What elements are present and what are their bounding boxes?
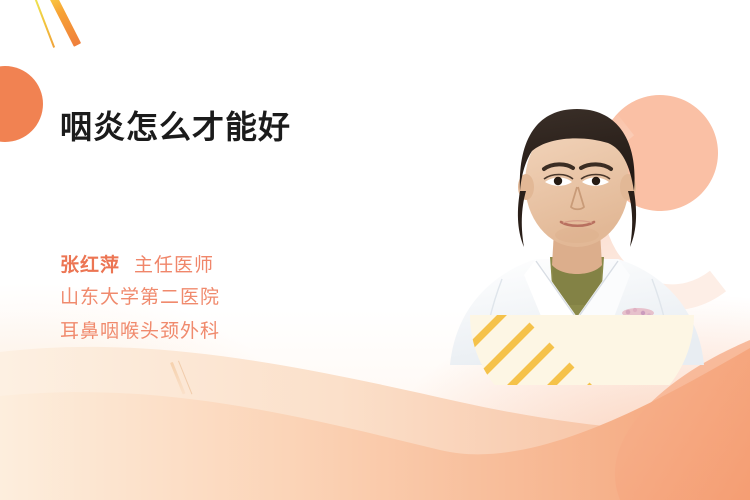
doctor-hospital: 山东大学第二医院 [60, 285, 420, 311]
doctor-info-card: 咽炎怎么才能好 张红萍主任医师 山东大学第二医院 耳鼻咽喉头颈外科 [0, 0, 750, 500]
doctor-department: 耳鼻咽喉头颈外科 [60, 319, 420, 345]
doctor-credit-line: 张红萍主任医师 [60, 250, 420, 277]
page-title: 咽炎怎么才能好 [60, 108, 420, 146]
doctor-portrait [432, 65, 722, 385]
doctor-name: 张红萍 [60, 255, 120, 276]
text-block: 咽炎怎么才能好 张红萍主任医师 山东大学第二医院 耳鼻咽喉头颈外科 [60, 108, 420, 345]
doctor-title: 主任医师 [134, 255, 214, 276]
head [518, 109, 636, 247]
